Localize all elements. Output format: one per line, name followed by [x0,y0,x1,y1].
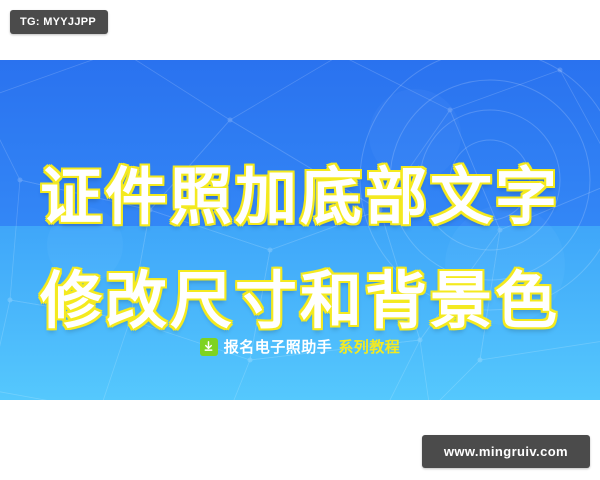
subtitle-suffix: 系列教程 [338,336,400,357]
subtitle-prefix: 报名电子照助手 [224,336,333,357]
tg-tag: TG: MYYJJPP [10,10,108,34]
watermark-url: www.mingruiv.com [422,435,590,468]
subtitle-row: 报名电子照助手 系列教程 [0,336,600,357]
banner-image: 证件照加底部文字 修改尺寸和背景色 报名电子照助手 系列教程 [0,60,600,400]
download-badge-icon [200,338,218,356]
headline-line-2: 修改尺寸和背景色 [0,250,600,340]
headline-line-1: 证件照加底部文字 [0,146,600,236]
